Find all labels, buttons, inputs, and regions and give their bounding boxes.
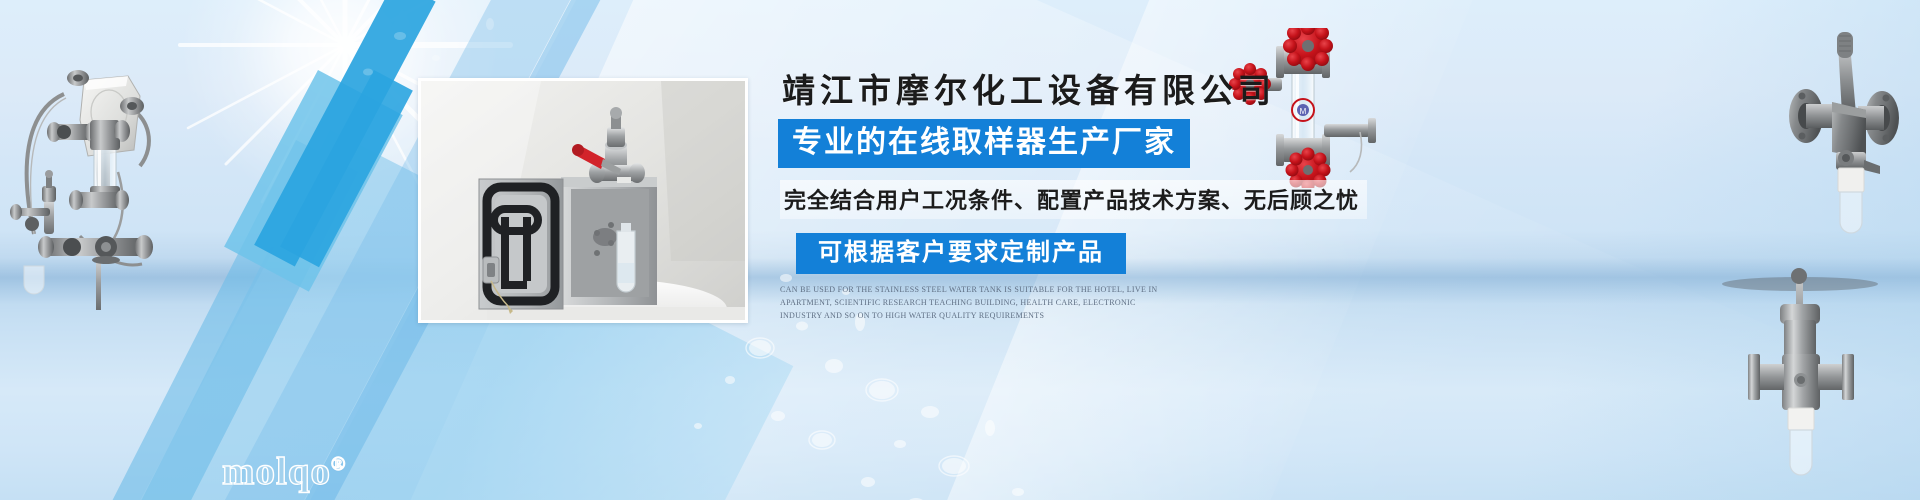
bg-chevron-light: [224, 70, 403, 292]
bg-diagonal-blue-edge: [0, 140, 358, 500]
headline-badge: 专业的在线取样器生产厂家: [778, 119, 1190, 168]
custom-product-badge: 可根据客户要求定制产品: [796, 233, 1126, 274]
bg-chevron-accent: [254, 0, 435, 266]
handwheel: [1283, 28, 1333, 71]
promo-banner: M: [0, 0, 1920, 500]
product-photo-sampler-cabinet: [418, 78, 748, 323]
subline-text: 完全结合用户工况条件、配置产品技术方案、无后顾之忧: [780, 180, 1367, 219]
bg-chevron-dark: [280, 70, 413, 267]
bg-diagonal-edge-right: [1452, 0, 1920, 500]
logo-text: molqo: [222, 450, 331, 493]
brand-watermark-logo: molqo®: [222, 452, 345, 491]
product-online-sampler-assembly: [6, 20, 196, 310]
english-description: CAN BE USED FOR THE STAINLESS STEEL WATE…: [780, 283, 1180, 323]
product-gate-sampling-valve: [1700, 228, 1900, 488]
company-name: 靖江市摩尔化工设备有限公司: [782, 74, 1418, 112]
registered-trademark-icon: ®: [331, 454, 345, 475]
banner-text-block: 靖江市摩尔化工设备有限公司 专业的在线取样器生产厂家 完全结合用户工况条件、配置…: [778, 74, 1418, 323]
product-lever-sampling-valve: [1740, 18, 1920, 238]
